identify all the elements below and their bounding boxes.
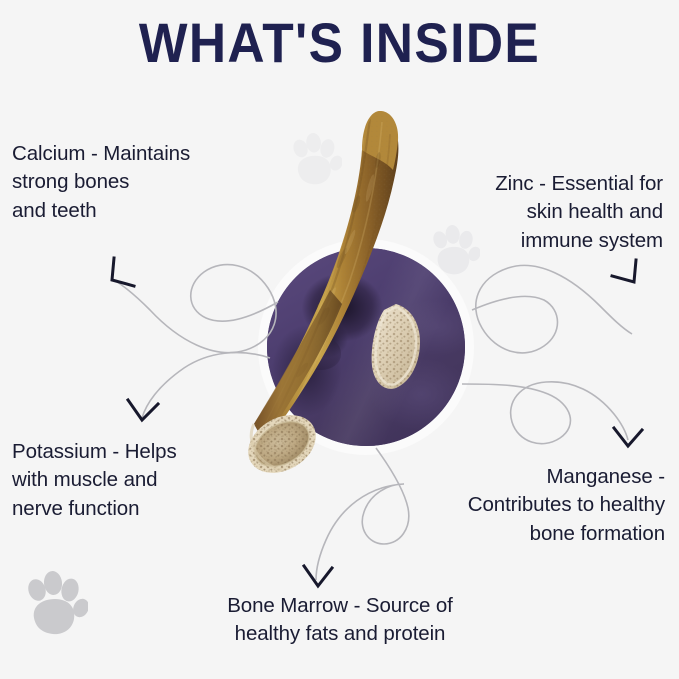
paw-print-icon <box>290 130 342 188</box>
page-title: WHAT'S INSIDE <box>27 14 652 73</box>
arrowhead-calcium <box>112 258 134 286</box>
connector-calcium <box>114 265 278 353</box>
circle-sheen <box>267 248 465 446</box>
benefit-potassium: Potassium - Helps with muscle and nerve … <box>12 438 260 523</box>
product-backdrop-circle <box>267 248 465 446</box>
arrowhead-manganese <box>614 428 642 446</box>
arrowhead-bone-marrow <box>304 566 332 586</box>
paw-print-icon <box>24 568 88 638</box>
benefit-manganese: Manganese - Contributes to healthy bone … <box>385 463 665 548</box>
arrowhead-potassium <box>128 400 158 420</box>
connector-manganese <box>462 382 628 444</box>
benefit-zinc: Zinc - Essential for skin health and imm… <box>405 170 663 255</box>
connector-zinc <box>472 265 632 353</box>
infographic-canvas: WHAT'S INSIDE <box>0 0 679 679</box>
connector-potassium <box>142 353 270 418</box>
benefit-bone-marrow: Bone Marrow - Source of healthy fats and… <box>170 592 510 649</box>
benefit-calcium: Calcium - Maintains strong bones and tee… <box>12 140 272 225</box>
arrowhead-zinc <box>612 260 636 282</box>
purple-circle <box>267 248 465 446</box>
